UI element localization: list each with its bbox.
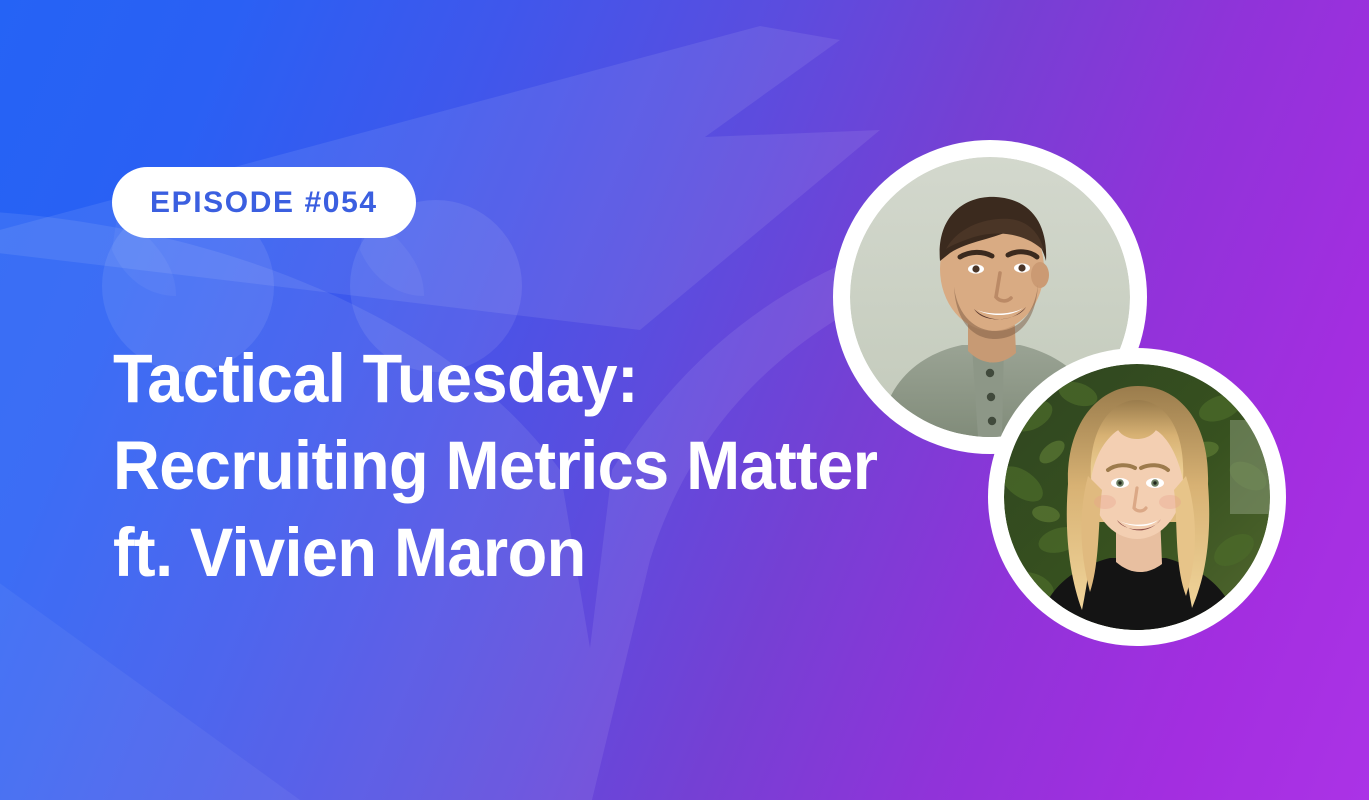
avatar-guest-photo [1004,364,1270,630]
episode-badge: EPISODE #054 [112,167,416,238]
page-title: Tactical Tuesday: Recruiting Metrics Mat… [113,335,933,596]
page-title-line-2: Recruiting Metrics Matter [113,422,884,509]
page-title-line-1: Tactical Tuesday: [113,335,884,422]
avatar-guest [988,348,1286,646]
episode-badge-label: EPISODE #054 [150,188,378,218]
podcast-episode-cover: EPISODE #054 Tactical Tuesday: Recruitin… [0,0,1369,800]
page-title-line-3: ft. Vivien Maron [113,509,884,596]
